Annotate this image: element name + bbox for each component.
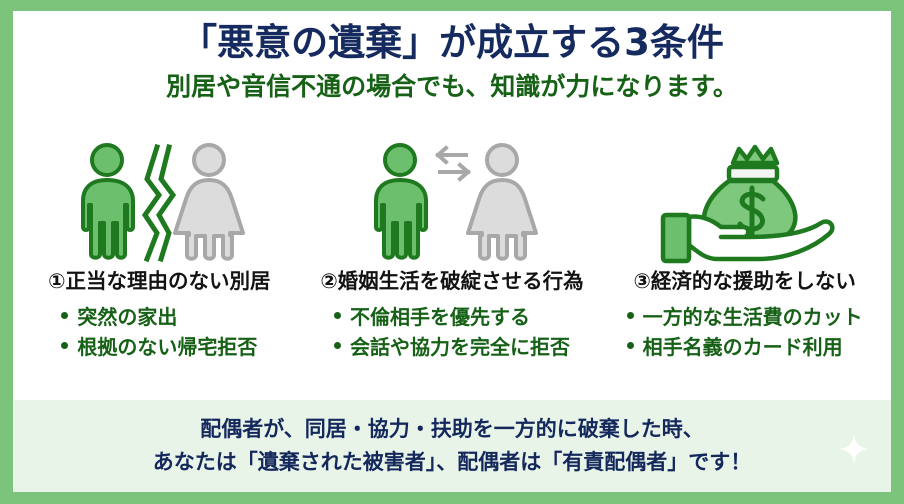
banner-line-1: 配偶者が、同居・協力・扶助を一方的に破棄した時、 xyxy=(200,413,704,446)
summary-banner: 配偶者が、同居・協力・扶助を一方的に破棄した時、 あなたは「遺棄された被害者」、… xyxy=(13,400,891,492)
condition-column-1: ①正当な理由のない別居 突然の家出 根拠のない帰宅拒否 xyxy=(13,139,306,359)
bullet-text: 不倫相手を優先する xyxy=(350,306,530,329)
bullet-dot-icon xyxy=(61,342,68,349)
bullet-dot-icon xyxy=(334,342,341,349)
condition-bullets-2: 不倫相手を優先する 会話や協力を完全に拒否 xyxy=(334,306,570,359)
condition-heading-3: ③経済的な援助をしない xyxy=(634,269,856,294)
page-title: 「悪意の遺棄」が成立する3条件 xyxy=(13,23,891,64)
condition-heading-1: ①正当な理由のない別居 xyxy=(48,269,270,294)
condition-heading-2: ②婚姻生活を破綻させる行為 xyxy=(320,269,583,294)
list-item: 不倫相手を優先する xyxy=(334,306,570,329)
condition-columns: ①正当な理由のない別居 突然の家出 根拠のない帰宅拒否 xyxy=(13,139,891,359)
list-item: 相手名義のカード利用 xyxy=(627,336,863,359)
money-bag-on-hand-icon xyxy=(655,139,835,267)
couple-exchange-arrows-icon xyxy=(362,139,542,267)
condition-column-2: ②婚姻生活を破綻させる行為 不倫相手を優先する 会話や協力を完全に拒否 xyxy=(306,139,599,359)
list-item: 一方的な生活費のカット xyxy=(627,306,863,329)
condition-bullets-1: 突然の家出 根拠のない帰宅拒否 xyxy=(61,306,257,359)
header: 「悪意の遺棄」が成立する3条件 別居や音信不通の場合でも、知識が力になります。 xyxy=(13,23,891,100)
condition-column-3: ③経済的な援助をしない 一方的な生活費のカット 相手名義のカード利用 xyxy=(598,139,891,359)
poster-card: 「悪意の遺棄」が成立する3条件 別居や音信不通の場合でも、知識が力になります。 xyxy=(13,11,891,492)
list-item: 根拠のない帰宅拒否 xyxy=(61,336,257,359)
poster-frame: 「悪意の遺棄」が成立する3条件 別居や音信不通の場合でも、知識が力になります。 xyxy=(0,0,904,504)
separated-couple-icon xyxy=(69,139,249,267)
bullet-text: 一方的な生活費のカット xyxy=(643,306,863,329)
list-item: 会話や協力を完全に拒否 xyxy=(334,336,570,359)
bullet-text: 相手名義のカード利用 xyxy=(643,336,843,359)
bullet-dot-icon xyxy=(627,312,634,319)
bullet-text: 根拠のない帰宅拒否 xyxy=(77,336,257,359)
condition-bullets-3: 一方的な生活費のカット 相手名義のカード利用 xyxy=(627,306,863,359)
bullet-text: 突然の家出 xyxy=(77,306,177,329)
bullet-dot-icon xyxy=(334,312,341,319)
banner-line-2: あなたは「遺棄された被害者」、配偶者は「有責配偶者」です！ xyxy=(153,446,752,479)
page-subtitle: 別居や音信不通の場合でも、知識が力になります。 xyxy=(13,73,891,101)
list-item: 突然の家出 xyxy=(61,306,257,329)
sparkle-icon xyxy=(839,434,869,464)
bullet-text: 会話や協力を完全に拒否 xyxy=(350,336,570,359)
bullet-dot-icon xyxy=(627,342,634,349)
bullet-dot-icon xyxy=(61,312,68,319)
